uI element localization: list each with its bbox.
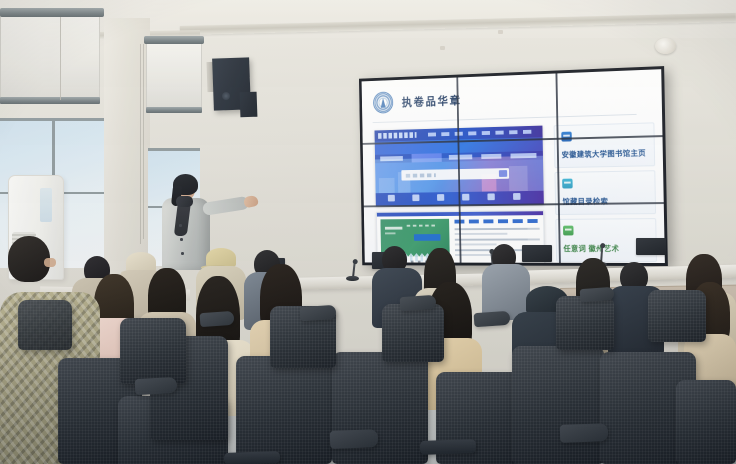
chair-tablet-arm[interactable] bbox=[135, 377, 178, 395]
keyword-icon bbox=[563, 226, 574, 236]
chair-armrest[interactable] bbox=[224, 451, 280, 464]
chair-armrest[interactable] bbox=[420, 439, 476, 455]
result-row bbox=[455, 228, 534, 230]
blind-cord[interactable] bbox=[143, 44, 144, 239]
university-seal-icon bbox=[373, 91, 393, 113]
chair[interactable] bbox=[556, 296, 614, 350]
blind-bottom-bar[interactable] bbox=[0, 97, 100, 104]
coat-button bbox=[179, 224, 182, 227]
step-card-2[interactable]: 馆藏目录检索 bbox=[554, 170, 656, 215]
chair-tablet-arm[interactable] bbox=[560, 423, 609, 443]
coat-button bbox=[180, 238, 183, 241]
result-row bbox=[455, 239, 528, 241]
catalog-icon bbox=[562, 179, 573, 189]
window-frame bbox=[148, 148, 200, 151]
chair[interactable] bbox=[676, 380, 736, 464]
video-wall-display: 执卷品华章 bbox=[362, 69, 665, 263]
results-filter-tabs bbox=[454, 219, 538, 223]
step-card-1[interactable]: 安徽建筑大学图书馆主页 bbox=[554, 122, 656, 168]
wall-fitting bbox=[498, 30, 503, 34]
chair[interactable] bbox=[648, 290, 706, 342]
presentation-slide: 执卷品华章 bbox=[362, 69, 665, 263]
blind-bottom-bar[interactable] bbox=[146, 107, 202, 113]
presenter-collar bbox=[176, 196, 193, 207]
result-date bbox=[528, 228, 540, 230]
chair[interactable] bbox=[512, 346, 604, 464]
desk-monitor bbox=[636, 238, 666, 255]
step-label-2: 馆藏目录检索 bbox=[562, 195, 650, 207]
cap bbox=[206, 248, 236, 267]
cap bbox=[126, 252, 156, 272]
slide-title: 执卷品华章 bbox=[402, 93, 462, 110]
web-logo-icon bbox=[378, 132, 417, 139]
blind-cord[interactable] bbox=[140, 44, 141, 244]
chair-tablet-arm[interactable] bbox=[300, 305, 337, 321]
smoke-detector-icon bbox=[655, 38, 676, 54]
chair[interactable] bbox=[120, 318, 186, 384]
window-blind[interactable] bbox=[146, 40, 202, 110]
led-video-wall[interactable]: 执卷品华章 bbox=[359, 66, 668, 266]
blind-rail[interactable] bbox=[144, 36, 204, 44]
ear bbox=[44, 258, 56, 267]
coat-button bbox=[181, 252, 184, 255]
result-row bbox=[455, 233, 508, 235]
wall-fitting bbox=[440, 46, 445, 50]
step-label-1: 安徽建筑大学图书馆主页 bbox=[562, 147, 650, 160]
chair[interactable] bbox=[18, 300, 72, 350]
lecture-room-photo: 执卷品华章 bbox=[0, 0, 736, 464]
desk-monitor bbox=[522, 245, 552, 262]
microphone-base bbox=[346, 276, 359, 281]
result-date bbox=[528, 238, 540, 240]
chair-tablet-arm[interactable] bbox=[474, 311, 511, 327]
window-blind[interactable] bbox=[0, 12, 100, 100]
ac-vent bbox=[40, 188, 52, 222]
blind-cord[interactable] bbox=[60, 17, 61, 100]
blind-rail[interactable] bbox=[0, 8, 104, 17]
chair-tablet-arm[interactable] bbox=[580, 287, 615, 302]
chair-tablet-arm[interactable] bbox=[330, 429, 379, 449]
chair[interactable] bbox=[236, 356, 332, 464]
chair-tablet-arm[interactable] bbox=[400, 295, 437, 311]
chair[interactable] bbox=[382, 304, 444, 362]
speaker-cone-icon bbox=[222, 92, 230, 100]
wall-speaker-base bbox=[240, 92, 258, 118]
web-nav-links bbox=[428, 130, 537, 137]
slide-divider bbox=[373, 114, 637, 123]
chair-tablet-arm[interactable] bbox=[200, 311, 235, 327]
